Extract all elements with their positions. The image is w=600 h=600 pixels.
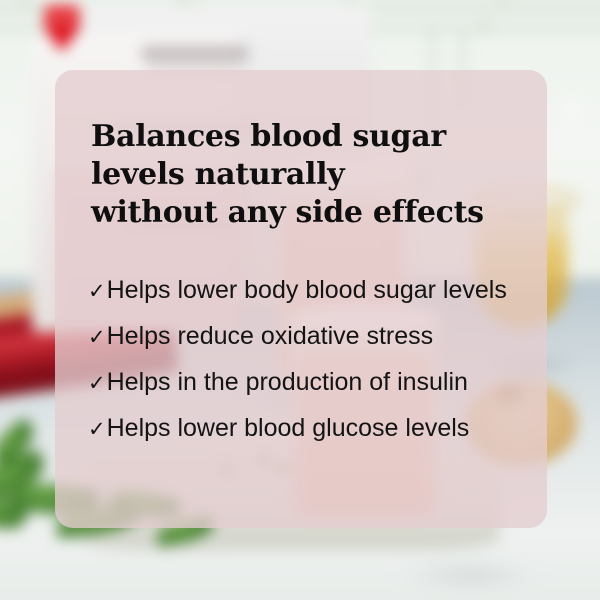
headline-line-1: Balances blood sugar — [91, 118, 531, 156]
benefit-label: Helps reduce oxidative stress — [107, 314, 434, 358]
page-title: Balances blood sugar levels naturally wi… — [91, 118, 531, 232]
package-brand-mark — [142, 46, 248, 61]
benefit-list: ✓ Helps lower body blood sugar levels ✓ … — [88, 268, 538, 452]
benefit-label: Helps in the production of insulin — [107, 360, 468, 404]
check-icon: ✓ — [88, 316, 106, 360]
benefit-label: Helps lower body blood sugar levels — [107, 268, 507, 312]
brick-seam — [500, 0, 505, 6]
promo-card: Balances blood sugar levels naturally wi… — [0, 0, 600, 600]
list-item: ✓ Helps reduce oxidative stress — [88, 314, 538, 360]
price-tag-label — [50, 14, 74, 24]
headline-line-2: levels naturally — [91, 156, 531, 194]
brick-seam — [22, 0, 27, 6]
text-overlay-card: Balances blood sugar levels naturally wi… — [55, 70, 547, 528]
headline-line-3: without any side effects — [91, 194, 531, 232]
list-item: ✓ Helps lower body blood sugar levels — [88, 268, 538, 314]
benefit-label: Helps lower blood glucose levels — [107, 406, 470, 450]
check-icon: ✓ — [88, 362, 106, 406]
price-tag-point — [46, 30, 78, 52]
list-item: ✓ Helps in the production of insulin — [88, 360, 538, 406]
check-icon: ✓ — [88, 408, 106, 452]
list-item: ✓ Helps lower blood glucose levels — [88, 406, 538, 452]
check-icon: ✓ — [88, 270, 106, 314]
